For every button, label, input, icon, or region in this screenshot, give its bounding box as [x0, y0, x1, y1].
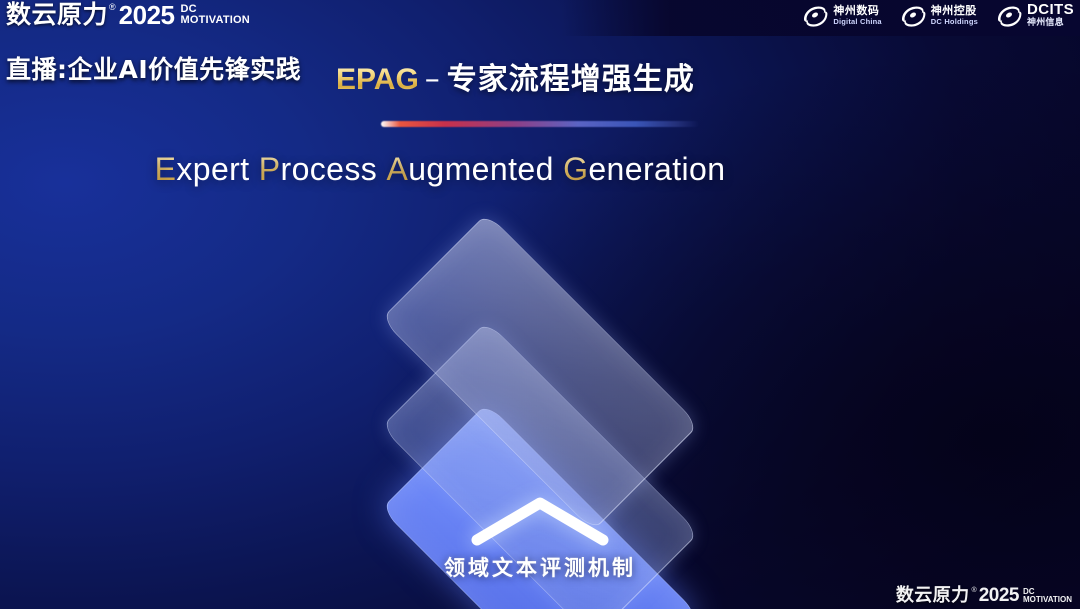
logo-text: 神州数码 Digital China: [833, 5, 881, 26]
subtitle: Expert Process Augmented Generation: [0, 151, 1080, 188]
stack-layer-top-plate: [381, 213, 699, 531]
subtitle-cap-p: P: [259, 151, 281, 187]
logo-name-en: DCITS: [1027, 2, 1074, 17]
title-dash: –: [419, 62, 447, 97]
logo-name-cn: 神州数码: [833, 5, 881, 16]
brand-dc-line2: MOTIVATION: [181, 15, 250, 26]
subtitle-rest-generation: eneration: [588, 151, 725, 187]
title-acronym: EPAG: [336, 63, 419, 96]
stack-label-top: 领域文本评测机制: [255, 552, 825, 582]
watermark-name-cn: 数云原力: [896, 586, 970, 606]
subtitle-cap-e: E: [155, 151, 177, 187]
logo-digital-china: 神州数码 Digital China: [802, 3, 881, 27]
footer-watermark: 数云原力 ® 2025 DC MOTIVATION: [896, 586, 1072, 606]
logo-name-en: Digital China: [833, 18, 881, 26]
swoosh-icon: [802, 3, 828, 27]
live-stream-title: 直播:企业AI价值先锋实践: [6, 50, 301, 86]
logo-name-cn: 神州控股: [931, 5, 978, 16]
subtitle-cap-a: A: [386, 151, 408, 187]
logo-name-en: DC Holdings: [931, 18, 978, 26]
watermark-dc-line2: MOTIVATION: [1023, 596, 1072, 604]
subtitle-cap-g: G: [563, 151, 588, 187]
title-chinese: 专家流程增强生成: [447, 62, 695, 97]
brand-registered-mark: ®: [109, 1, 116, 13]
title-divider: [381, 121, 699, 127]
logo-name-cn: 神州信息: [1027, 19, 1074, 28]
slide-stage: 数云原力 ® 2025 DC MOTIVATION 直播:企业AI价值先锋实践 …: [0, 0, 1080, 609]
page-title: EPAG–专家流程增强生成: [336, 54, 695, 98]
subtitle-rest-expert: xpert: [176, 151, 249, 187]
logo-text: 神州控股 DC Holdings: [931, 5, 978, 26]
watermark-registered-mark: ®: [972, 586, 977, 595]
watermark-dc-motivation: DC MOTIVATION: [1023, 586, 1072, 604]
swoosh-icon: [900, 3, 926, 27]
logo-dc-holdings: 神州控股 DC Holdings: [900, 3, 978, 27]
logo-text: DCITS 神州信息: [1027, 2, 1074, 28]
chevron-up-icon: [255, 494, 825, 553]
corporate-logos: 神州数码 Digital China 神州控股 DC Holdings: [802, 2, 1074, 28]
brand-dc-motivation: DC MOTIVATION: [181, 1, 250, 26]
swoosh-icon: [996, 3, 1022, 27]
watermark-year: 2025: [979, 586, 1019, 606]
subtitle-rest-process: rocess: [281, 151, 378, 187]
layer-stack-diagram: 领域文本评测机制 Dynamic MOE 长文本记忆 三类语义建模模块: [255, 222, 825, 592]
brand-year: 2025: [119, 1, 175, 29]
stack-layer-top: [390, 222, 690, 522]
brand-name-cn: 数云原力: [6, 1, 108, 29]
subtitle-rest-augmented: ugmented: [408, 151, 554, 187]
logo-dcits: DCITS 神州信息: [996, 2, 1074, 28]
brand-logo: 数云原力 ® 2025 DC MOTIVATION: [6, 1, 250, 29]
